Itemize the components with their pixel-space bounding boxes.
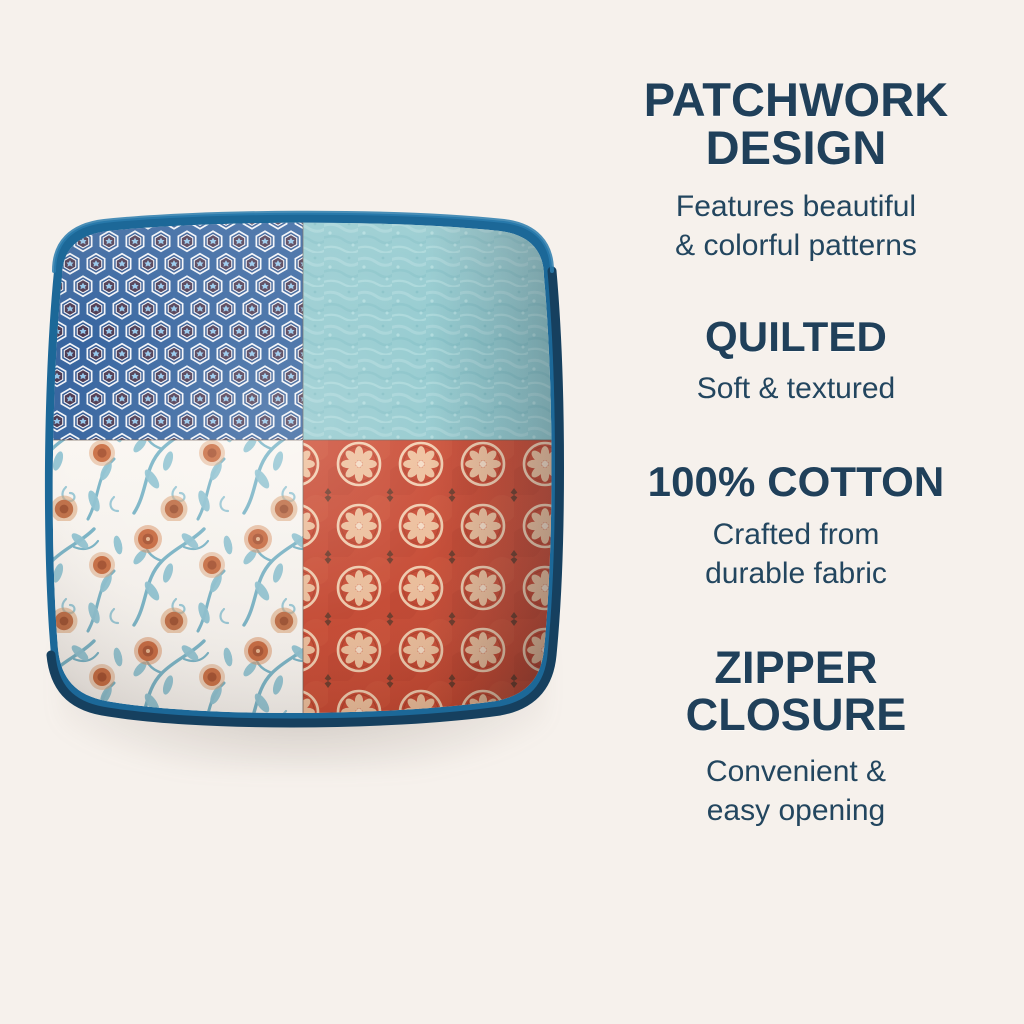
feature-title-quilted: QUILTED	[568, 315, 1024, 358]
pillow-product-image	[18, 185, 588, 765]
feature-cotton: 100% COTTON Crafted from durable fabric	[568, 460, 1024, 593]
feature-desc-cotton: Crafted from durable fabric	[568, 515, 1024, 593]
feature-quilted: QUILTED Soft & textured	[568, 315, 1024, 408]
pillow-face	[18, 185, 588, 765]
product-image-region	[0, 130, 600, 890]
feature-desc-zipper-closure: Convenient & easy opening	[568, 752, 1024, 830]
feature-desc-patchwork-design: Features beautiful & colorful patterns	[568, 187, 1024, 265]
infographic-canvas: PATCHWORK DESIGN Features beautiful & co…	[0, 0, 1024, 1024]
feature-title-patchwork-design: PATCHWORK DESIGN	[568, 76, 1024, 173]
feature-title-cotton: 100% COTTON	[568, 460, 1024, 503]
feature-title-zipper-closure: ZIPPER CLOSURE	[568, 645, 1024, 738]
feature-zipper-closure: ZIPPER CLOSURE Convenient & easy opening	[568, 645, 1024, 830]
feature-patchwork-design: PATCHWORK DESIGN Features beautiful & co…	[568, 76, 1024, 265]
feature-list: PATCHWORK DESIGN Features beautiful & co…	[568, 0, 1024, 1024]
feature-desc-quilted: Soft & textured	[568, 369, 1024, 408]
